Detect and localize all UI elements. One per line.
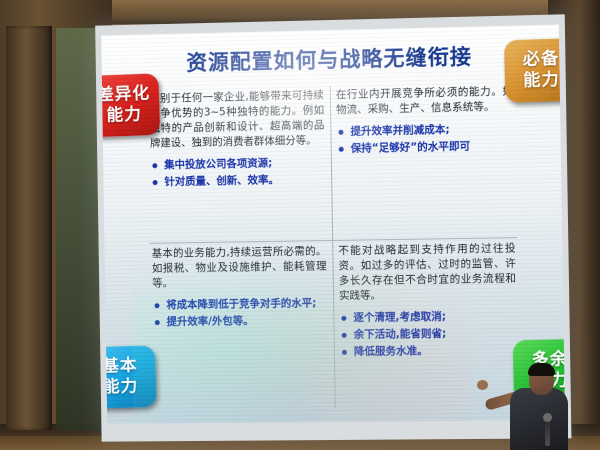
badge-essential-line2: 能力 — [523, 70, 560, 92]
bullet-dot-icon — [342, 350, 347, 355]
list-item: 保持“足够好”的水平即可 — [337, 138, 514, 156]
list-item-label: 余下活动,能省则省; — [354, 328, 447, 341]
list-item-label: 提升效率/外包等。 — [167, 315, 254, 328]
slide-title: 资源配置如何与战略无缝衔接 — [101, 39, 559, 79]
badge-essential-capability: 必备 能力 — [504, 38, 565, 103]
bullet-dot-icon — [153, 180, 158, 185]
glasses-icon — [530, 375, 553, 382]
list-item-label: 保持“足够好”的水平即可 — [351, 140, 471, 154]
bullet-dot-icon — [341, 316, 346, 321]
microphone-head-icon — [543, 413, 552, 422]
list-item: 提升效率/外包等。 — [153, 313, 328, 330]
list-item-label: 降低服务水准。 — [354, 345, 428, 358]
badge-differentiating-line2: 能力 — [106, 105, 142, 127]
door — [6, 26, 52, 430]
quadrant-differentiating-paragraph: 有别于任何一家企业,能够带来可持续竞争优势的3~5种独特的能力。例如独特的产品创… — [149, 88, 324, 151]
capability-matrix: 有别于任何一家企业,能够带来可持续竞争优势的3~5种独特的能力。例如独特的产品创… — [147, 82, 520, 410]
quadrant-excess-paragraph: 不能对战略起到支持作用的过往投资。如过多的评估、过时的监管、许多长久存在但不合时… — [338, 241, 516, 304]
matrix-vertical-divider — [330, 86, 336, 408]
quadrant-differentiating: 有别于任何一家企业,能够带来可持续竞争优势的3~5种独特的能力。例如独特的产品创… — [149, 88, 325, 192]
bullet-dot-icon — [342, 333, 347, 338]
list-item: 提升效率并削减成本; — [336, 121, 513, 140]
list-item: 针对质量、创新、效率。 — [151, 172, 326, 190]
badge-basic-line2: 能力 — [103, 377, 139, 399]
list-item-label: 将成本降到低于竞争对手的水平; — [166, 297, 316, 311]
microphone-icon — [545, 420, 550, 446]
badge-basic-capability: 基本 能力 — [101, 345, 156, 408]
bullet-dot-icon — [339, 147, 344, 152]
quadrant-essential: 在行业内开展竞争所必须的能力。如物流、采购、生产、信息系统等。 提升效率并削减成… — [336, 84, 514, 159]
list-item-label: 提升效率并削减成本; — [350, 124, 449, 138]
badge-differentiating-line1: 差异化 — [101, 83, 150, 106]
quadrant-basic-paragraph: 基本的业务能力,持续运营所必需的。如报税、物业及设施维护、能耗管理等。 — [152, 244, 327, 291]
bullet-dot-icon — [155, 320, 160, 325]
list-item: 将成本降到低于竞争对手的水平; — [152, 296, 327, 313]
presenter-person — [480, 344, 576, 450]
quadrant-basic-bullets: 将成本降到低于竞争对手的水平; 提升效率/外包等。 — [152, 296, 327, 330]
list-item-label: 逐个清理,考虑取消; — [353, 311, 446, 324]
badge-essential-line1: 必备 — [522, 49, 559, 71]
list-item: 逐个清理,考虑取消; — [339, 309, 516, 326]
bullet-dot-icon — [152, 163, 157, 168]
quadrant-basic: 基本的业务能力,持续运营所必需的。如报税、物业及设施维护、能耗管理等。 将成本降… — [152, 244, 328, 332]
list-item-label: 针对质量、创新、效率。 — [164, 174, 279, 188]
quadrant-essential-paragraph: 在行业内开展竞争所必须的能力。如物流、采购、生产、信息系统等。 — [336, 84, 514, 118]
bullet-dot-icon — [155, 303, 160, 308]
presenter-hand — [477, 380, 488, 390]
quadrant-differentiating-bullets: 集中投放公司各项资源; 针对质量、创新、效率。 — [150, 155, 325, 190]
badge-basic-line1: 基本 — [102, 356, 138, 378]
list-item-label: 集中投放公司各项资源; — [164, 157, 272, 171]
bullet-dot-icon — [338, 130, 343, 135]
list-item: 集中投放公司各项资源; — [150, 155, 325, 173]
badge-differentiating-capability: 差异化 能力 — [101, 73, 160, 137]
quadrant-essential-bullets: 提升效率并削减成本; 保持“足够好”的水平即可 — [336, 121, 514, 157]
presenter-torso — [510, 388, 568, 450]
list-item: 余下活动,能省则省; — [340, 326, 517, 343]
